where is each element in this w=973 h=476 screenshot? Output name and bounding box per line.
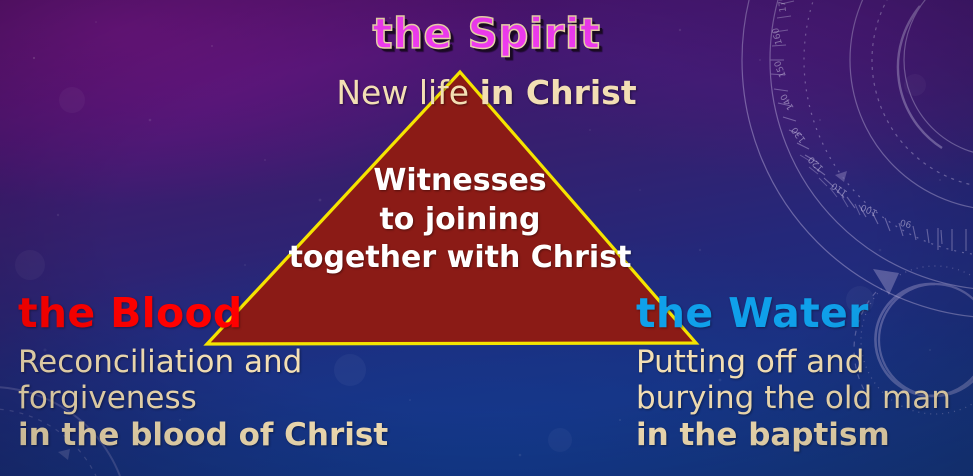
vignette-overlay (0, 0, 973, 476)
slide-canvas: 170 160 150 140 130 120 110 100 90 (0, 0, 973, 476)
